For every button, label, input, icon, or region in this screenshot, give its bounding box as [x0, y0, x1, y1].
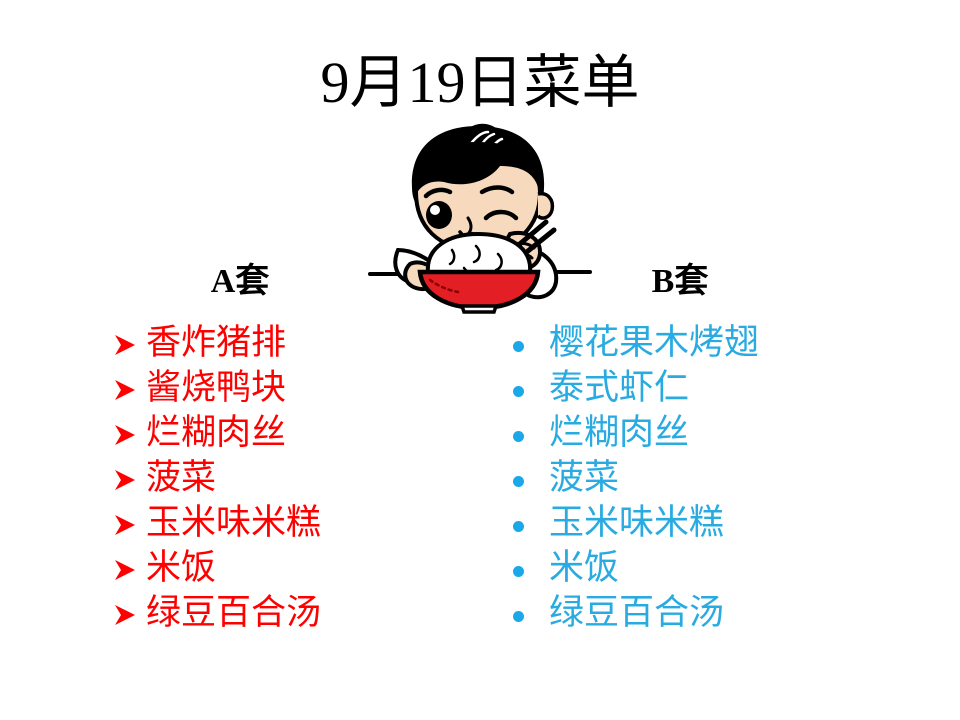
menu-slide: 9月19日菜单: [0, 0, 960, 720]
list-item: 绿豆百合汤: [112, 592, 442, 637]
list-item: 樱花果木烤翅: [505, 322, 865, 367]
arrow-bullet-icon: [112, 457, 146, 499]
round-bullet-icon: [505, 547, 549, 589]
list-item-label: 绿豆百合汤: [146, 592, 321, 634]
list-item-label: 菠菜: [549, 457, 619, 499]
menu-list-b: 樱花果木烤翅 泰式虾仁 烂糊肉丝 菠菜 玉米味米糕 米饭 绿豆百合汤: [505, 322, 865, 637]
list-item: 米饭: [505, 547, 865, 592]
boy-eating-rice-bowl-illustration: [368, 122, 592, 314]
round-bullet-icon: [505, 457, 549, 499]
arrow-bullet-icon: [112, 502, 146, 544]
round-bullet-icon: [505, 412, 549, 454]
list-item-label: 烂糊肉丝: [549, 412, 689, 454]
list-item-label: 玉米味米糕: [146, 502, 321, 544]
list-item: 香炸猪排: [112, 322, 442, 367]
list-item-label: 米饭: [549, 547, 619, 589]
arrow-bullet-icon: [112, 367, 146, 409]
list-item: 米饭: [112, 547, 442, 592]
round-bullet-icon: [505, 592, 549, 634]
list-item: 菠菜: [112, 457, 442, 502]
list-item-label: 玉米味米糕: [549, 502, 724, 544]
round-bullet-icon: [505, 322, 549, 364]
list-item-label: 酱烧鸭块: [146, 367, 286, 409]
column-header-b: B套: [560, 263, 800, 301]
page-title: 9月19日菜单: [0, 52, 960, 114]
list-item-label: 樱花果木烤翅: [549, 322, 759, 364]
round-bullet-icon: [505, 367, 549, 409]
list-item-label: 绿豆百合汤: [549, 592, 724, 634]
list-item: 烂糊肉丝: [505, 412, 865, 457]
arrow-bullet-icon: [112, 547, 146, 589]
arrow-bullet-icon: [112, 592, 146, 634]
list-item-label: 烂糊肉丝: [146, 412, 286, 454]
arrow-bullet-icon: [112, 322, 146, 364]
list-item: 玉米味米糕: [505, 502, 865, 547]
list-item: 泰式虾仁: [505, 367, 865, 412]
list-item-label: 香炸猪排: [146, 322, 286, 364]
list-item: 绿豆百合汤: [505, 592, 865, 637]
arrow-bullet-icon: [112, 412, 146, 454]
list-item: 玉米味米糕: [112, 502, 442, 547]
list-item: 烂糊肉丝: [112, 412, 442, 457]
list-item-label: 菠菜: [146, 457, 216, 499]
menu-list-a: 香炸猪排 酱烧鸭块 烂糊肉丝 菠菜: [112, 322, 442, 637]
list-item: 酱烧鸭块: [112, 367, 442, 412]
round-bullet-icon: [505, 502, 549, 544]
list-item-label: 泰式虾仁: [549, 367, 689, 409]
list-item-label: 米饭: [146, 547, 216, 589]
column-header-a: A套: [120, 263, 360, 301]
list-item: 菠菜: [505, 457, 865, 502]
